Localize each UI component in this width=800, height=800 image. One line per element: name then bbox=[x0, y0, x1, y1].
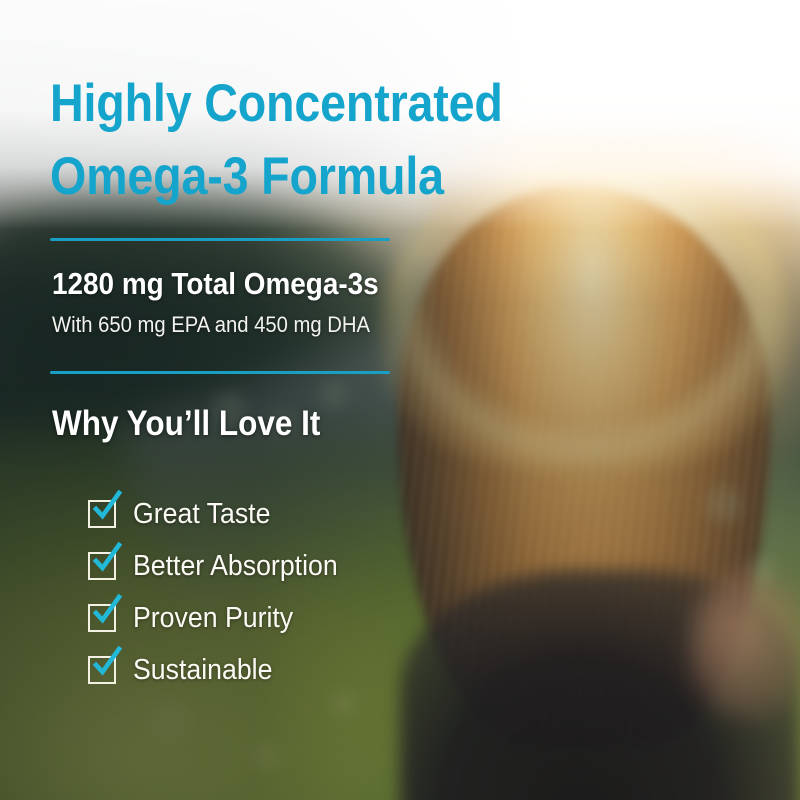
list-item-label: Better Absorption bbox=[133, 550, 338, 583]
divider-middle bbox=[50, 371, 390, 374]
checkmark-icon bbox=[89, 543, 123, 577]
list-item-label: Great Taste bbox=[133, 498, 270, 531]
list-item-label: Proven Purity bbox=[133, 602, 293, 635]
checked-checkbox-icon bbox=[88, 552, 116, 580]
checked-checkbox-icon bbox=[88, 500, 116, 528]
list-item: Proven Purity bbox=[88, 592, 508, 644]
list-item: Better Absorption bbox=[88, 540, 508, 592]
checkmark-icon bbox=[89, 595, 123, 629]
benefits-heading: Why You’ll Love It bbox=[52, 404, 320, 444]
product-benefit-poster: Highly Concentrated Omega-3 Formula 1280… bbox=[0, 0, 800, 800]
benefits-list: Great Taste Better Absorption Proven Pur… bbox=[88, 488, 508, 696]
page-title: Highly Concentrated Omega-3 Formula bbox=[50, 68, 508, 213]
checkmark-icon bbox=[89, 647, 123, 681]
list-item: Great Taste bbox=[88, 488, 508, 540]
list-item-label: Sustainable bbox=[133, 654, 272, 687]
headline-line-2: Omega-3 Formula bbox=[50, 141, 508, 214]
list-item: Sustainable bbox=[88, 644, 508, 696]
total-omega3-stat: 1280 mg Total Omega-3s bbox=[52, 266, 379, 302]
headline-line-1: Highly Concentrated bbox=[50, 68, 508, 141]
checked-checkbox-icon bbox=[88, 604, 116, 632]
checked-checkbox-icon bbox=[88, 656, 116, 684]
checkmark-icon bbox=[89, 491, 123, 525]
epa-dha-breakdown: With 650 mg EPA and 450 mg DHA bbox=[52, 312, 370, 338]
copy-block: Highly Concentrated Omega-3 Formula 1280… bbox=[50, 0, 610, 800]
divider-top bbox=[50, 238, 390, 241]
